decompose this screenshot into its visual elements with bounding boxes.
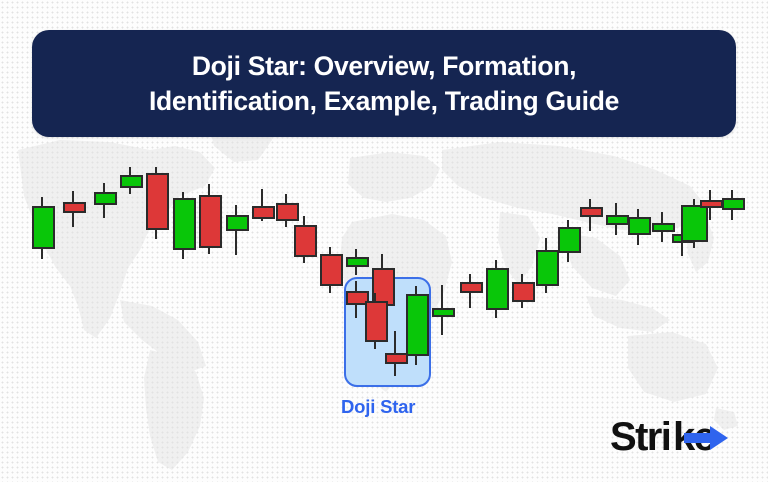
candle-body-up [628,217,651,235]
candle-body-down [700,200,723,208]
candle-body-up [722,198,745,210]
candle-body-up [536,250,559,286]
candle-body-up [346,257,369,267]
infographic-page: Doji Star: Overview, Formation, Identifi… [0,0,768,482]
candle-body-up [94,192,117,205]
doji-star-label: Doji Star [341,396,415,418]
candle-body-down [252,206,275,219]
candle-body-up [32,206,55,249]
candle-body-up [606,215,629,225]
strike-logo-mark: Stri ke [610,413,742,463]
strike-logo[interactable]: Stri ke [610,412,742,464]
candle-body-down [276,203,299,221]
candle-body-down [460,282,483,293]
candle-body-down [320,254,343,286]
candle-body-down [580,207,603,217]
candle-body-down [199,195,222,248]
logo-text-dark: Stri [610,415,670,459]
candle-body-down [146,173,169,230]
candle-body-down [63,202,86,213]
candle-body-down [294,225,317,257]
candle-body-up [558,227,581,253]
candle-body-up [226,215,249,231]
candle-body-up [173,198,196,250]
candle-body-up [120,175,143,188]
candle-body-up [406,294,429,356]
candle-body-up [681,205,708,242]
candle-body-down [365,301,388,342]
candle-body-up [432,308,455,317]
candlestick-chart: Doji Star [0,0,768,482]
candle-body-down [385,353,408,364]
candle-body-up [486,268,509,310]
candle-body-up [652,223,675,232]
candle-body-down [512,282,535,302]
